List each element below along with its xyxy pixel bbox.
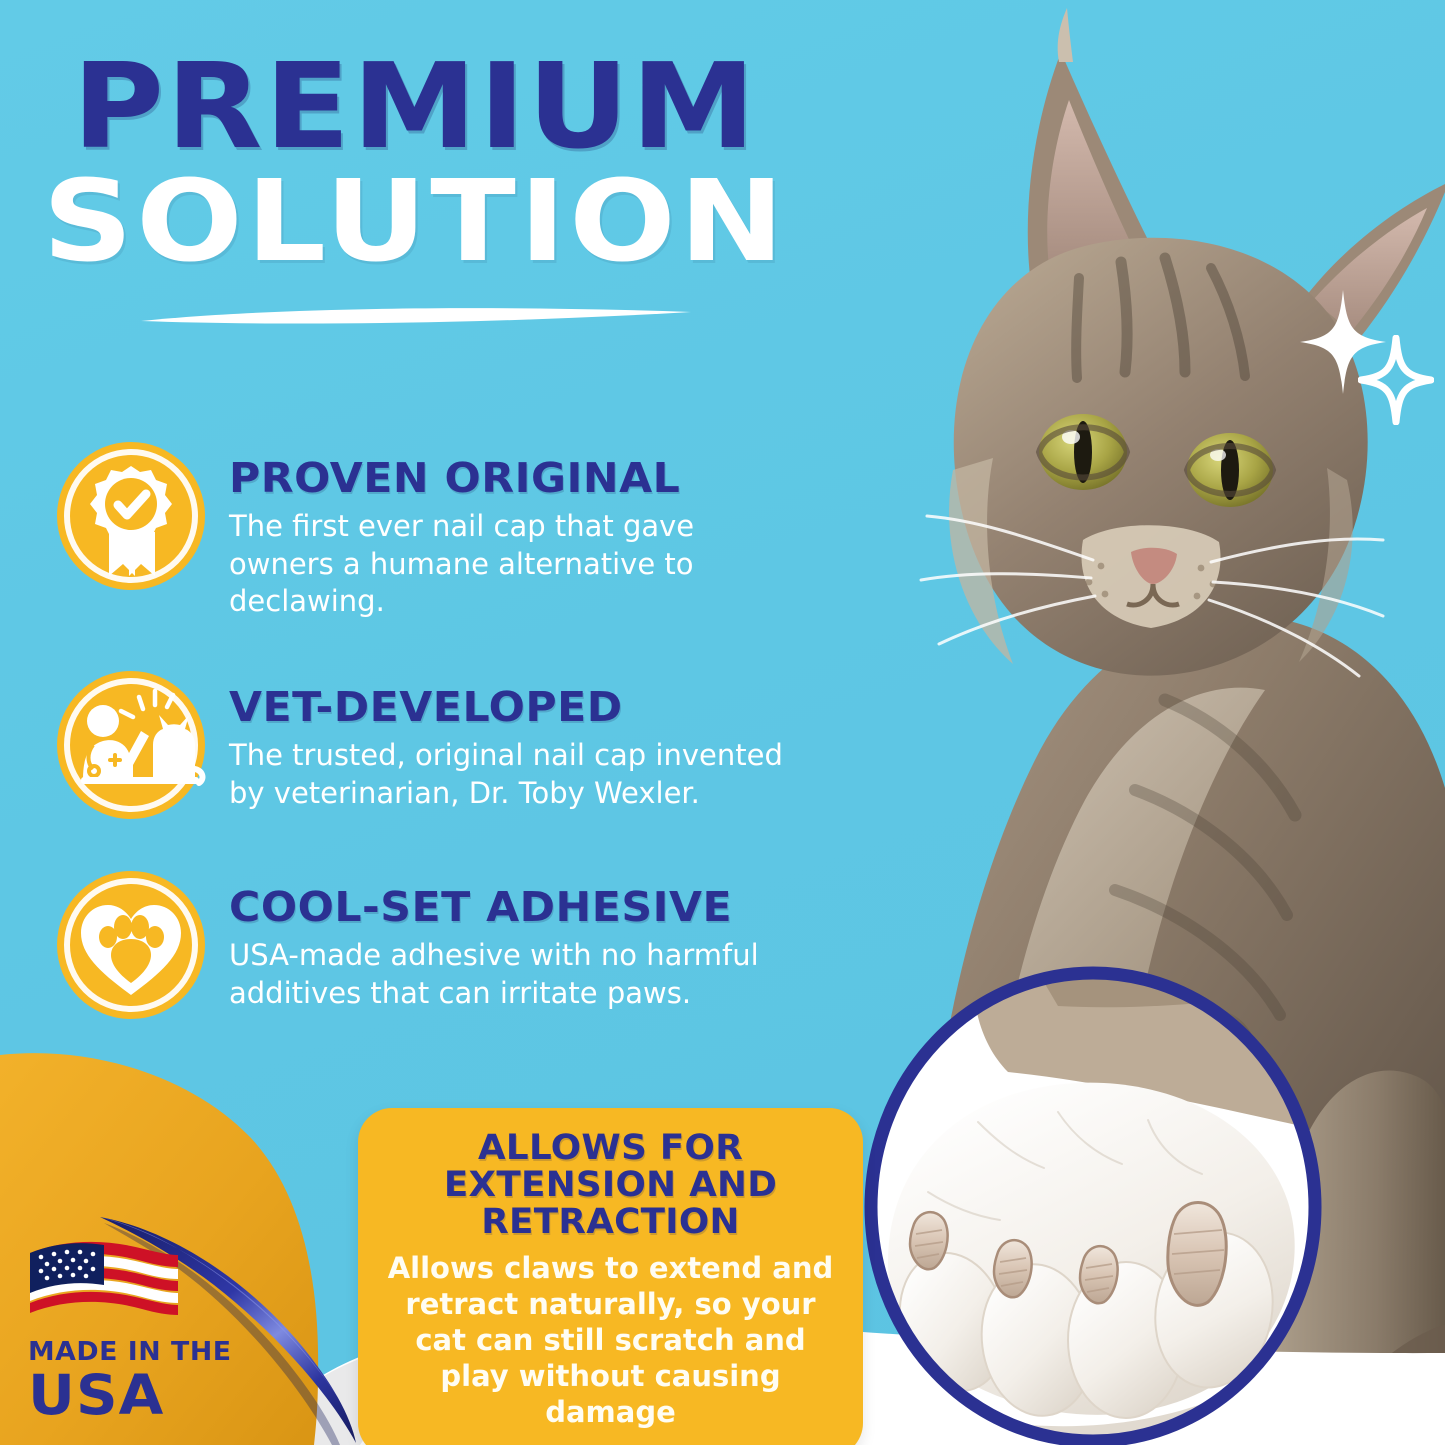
feature-item-vet-developed: VET-DEVELOPED The trusted, original nail… [55, 669, 845, 821]
callout-title: ALLOWS FOR EXTENSION AND RETRACTION [379, 1130, 841, 1241]
usa-badge-line2: USA [28, 1367, 254, 1425]
headline-premium: PREMIUM [0, 50, 855, 162]
headline-block: PREMIUM SOLUTION [0, 50, 830, 328]
callout-body: Allows claws to extend and retract natur… [384, 1251, 837, 1431]
feature-title: PROVEN ORIGINAL [229, 454, 870, 502]
heart-paw-icon [55, 869, 207, 1021]
cat-paw-with-nail-caps-photo [858, 962, 1328, 1445]
award-ribbon-check-icon [55, 440, 207, 592]
feature-title: VET-DEVELOPED [229, 683, 870, 731]
product-infographic: PREMIUM SOLUTION [0, 0, 1445, 1445]
headline-solution: SOLUTION [0, 166, 880, 278]
made-in-usa-badge: MADE IN THE USA [28, 1233, 243, 1425]
feature-item-proven-original: PROVEN ORIGINAL The first ever nail cap … [55, 440, 845, 621]
feature-description: USA-made adhesive with no harmful additi… [229, 937, 809, 1012]
usa-badge-line1: MADE IN THE [28, 1339, 249, 1365]
vet-highfive-cat-icon [55, 669, 207, 821]
sparkle-outline-icon [1358, 335, 1434, 425]
feature-description: The trusted, original nail cap invented … [229, 737, 799, 812]
feature-item-cool-set-adhesive: COOL-SET ADHESIVE USA-made adhesive with… [55, 869, 845, 1021]
callout-extension-retraction: ALLOWS FOR EXTENSION AND RETRACTION Allo… [358, 1108, 863, 1445]
feature-title: COOL-SET ADHESIVE [229, 883, 870, 931]
feature-description: The first ever nail cap that gave owners… [229, 508, 799, 621]
feature-list: PROVEN ORIGINAL The first ever nail cap … [55, 440, 845, 1069]
usa-flag-icon [28, 1233, 180, 1329]
swoosh-divider [135, 302, 695, 328]
